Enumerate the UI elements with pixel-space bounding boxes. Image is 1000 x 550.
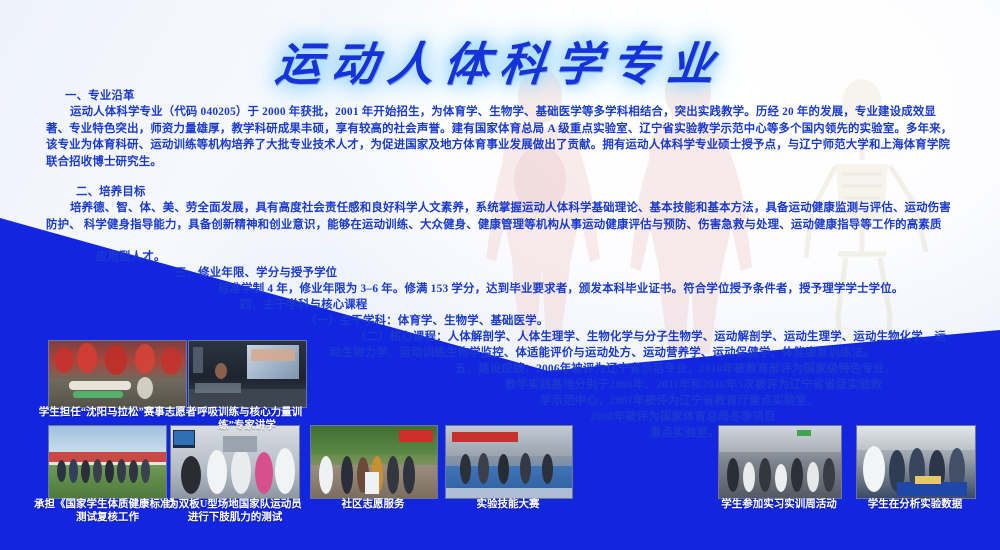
section-5-line-3: 学示范中心，2007年被评为辽宁省教育厅重点实验室， (540, 393, 819, 410)
photo-caption-8: 学生在分析实验数据 (850, 498, 980, 511)
section-2-body-tail: 应用型人才。 (96, 249, 166, 266)
photo-caption-3: 承担《国家学生体质健康标准》 测试复核工作 (30, 498, 185, 524)
photo-caption-2: “呼吸训练与核心力量训练”专家讲学 (182, 406, 312, 432)
section-2-body: 培养德、智、体、美、劳全面发展，具有高度社会责任感和良好科学人文素养，系统掌握运… (46, 200, 958, 233)
photo-caption-5: 社区志愿服务 (310, 498, 436, 511)
section-3-body: 标准学制 4 年，修业年限为 3–6 年。修满 153 学分，达到毕业要求者，颁… (218, 281, 903, 298)
section-4-heading: 四、主干学科与核心课程 (240, 297, 368, 314)
photo-caption-6: 实验技能大赛 (445, 498, 571, 511)
section-4-line-1: （一）主干学科：体育学、生物学、基础医学。 (305, 313, 548, 330)
photo-caption-4: 为双板U型场地国家队运动员 进行下肢肌力的测试 (165, 498, 305, 524)
photo-community-volunteer-service[interactable] (310, 425, 438, 499)
photo-data-analysis[interactable] (856, 425, 976, 499)
section-1-body: 运动人体科学专业（代码 040205）于 2000 年获批，2001 年开始招生… (46, 104, 958, 170)
photo-lab-skills-competition[interactable] (445, 425, 573, 499)
photo-internship-week[interactable] (718, 425, 842, 499)
photo-fitness-standard-test[interactable] (48, 425, 167, 499)
photo-caption-7: 学生参加实习实训周活动 (712, 498, 846, 511)
photo-marathon-volunteers[interactable] (48, 340, 187, 408)
photo-lower-limb-strength-test[interactable] (170, 425, 300, 499)
section-5-line-1: 五、建设成绩：2006年被评为辽宁省示范专业，2010年被教育部评为国家级特色专… (455, 361, 896, 378)
section-4-line-2: （二）核心课程：人体解剖学、人体生理学、生物化学与分子生物学、运动解剖学、运动生… (355, 329, 955, 346)
section-2-heading: 二、培养目标 (76, 184, 146, 201)
photo-expert-lecture[interactable] (188, 340, 307, 408)
page-title: 运动人体科学专业 (0, 28, 1000, 94)
poster-canvas: 运动人体科学专业 一、专业沿革 运动人体科学专业（代码 040205）于 200… (0, 0, 1000, 550)
section-5-line-2: 教学实践基地分别于2006年、2011年和2016年3次被评为辽宁省省级实验教 (505, 377, 882, 394)
section-5-line-4: 2008年被评为国家体育总局冬季项目 (590, 409, 776, 426)
section-4-line-3: 动生物力学、运动训练生物学监控、体适能评价与运动处方、运动营养学、运动保健学、体… (330, 345, 875, 362)
section-5-line-5: 重点实验室。 (650, 425, 720, 442)
photo-caption-1: 学生担任“沈阳马拉松”赛事志愿者 (30, 406, 205, 419)
section-3-heading: 三、修业年限、学分与授予学位 (175, 265, 337, 282)
